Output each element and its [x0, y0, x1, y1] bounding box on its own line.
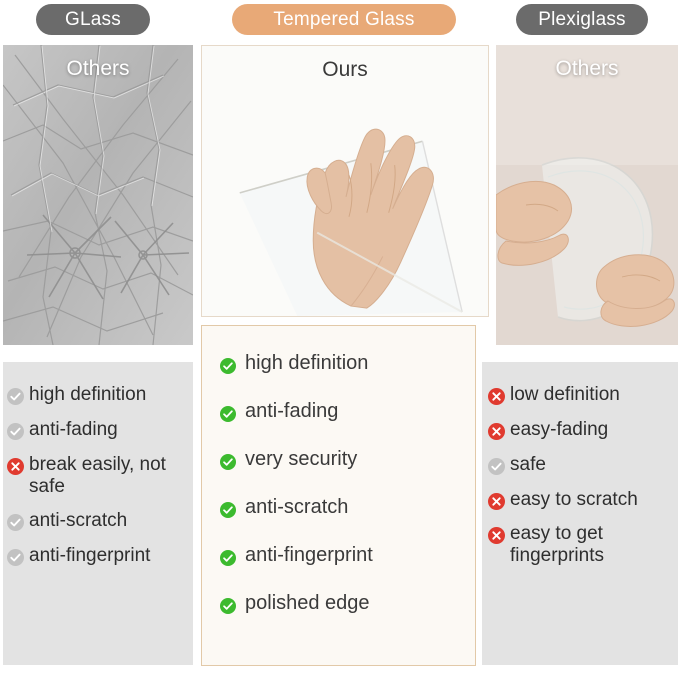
check-gray-icon [7, 388, 24, 405]
list-item: easy to scratch [488, 489, 672, 511]
panel-plexiglass-label: Others [496, 57, 678, 81]
list-item: anti-fingerprint [7, 545, 187, 567]
panel-tempered-glass: Ours [201, 45, 489, 317]
cross-red-icon [488, 388, 505, 405]
list-item: low definition [488, 384, 672, 406]
feature-list-plexiglass: low definition easy-fading safe easy to … [482, 362, 678, 665]
feature-label: anti-fingerprint [29, 545, 150, 567]
feature-label: low definition [510, 384, 620, 406]
cross-red-icon [7, 458, 24, 475]
panel-cracked-glass-label: Others [3, 57, 193, 81]
feature-label: anti-scratch [29, 510, 127, 532]
feature-label: safe [510, 454, 546, 476]
list-item: anti-fingerprint [220, 544, 465, 567]
list-item: very security [220, 448, 465, 471]
feature-label: high definition [245, 352, 368, 375]
header-pill-plexiglass: Plexiglass [516, 4, 648, 35]
check-gray-icon [7, 423, 24, 440]
list-item: safe [488, 454, 672, 476]
header-pill-glass-label: GLass [65, 9, 121, 31]
header-pill-glass: GLass [36, 4, 150, 35]
panel-tempered-glass-label: Ours [202, 58, 488, 82]
check-green-icon [220, 454, 236, 470]
bending-plexiglass-icon [496, 45, 678, 345]
check-green-icon [220, 358, 236, 374]
feature-label: anti-fading [29, 419, 118, 441]
cross-red-icon [488, 493, 505, 510]
list-item: polished edge [220, 592, 465, 615]
check-green-icon [220, 406, 236, 422]
feature-list-glass: high definition anti-fading break easily… [3, 362, 193, 665]
list-item: anti-fading [7, 419, 187, 441]
feature-label: polished edge [245, 592, 370, 615]
feature-label: very security [245, 448, 357, 471]
list-item: anti-scratch [7, 510, 187, 532]
feature-label: break easily, not safe [29, 454, 187, 498]
list-item: easy-fading [488, 419, 672, 441]
hand-holding-glass-icon [202, 46, 488, 316]
panel-plexiglass: Others [496, 45, 678, 345]
header-pill-tempered-glass: Tempered Glass [232, 4, 456, 35]
feature-label: easy-fading [510, 419, 608, 441]
feature-label: high definition [29, 384, 146, 406]
list-item: break easily, not safe [7, 454, 187, 498]
cross-red-icon [488, 527, 505, 544]
check-gray-icon [7, 549, 24, 566]
check-gray-icon [7, 514, 24, 531]
list-item: high definition [7, 384, 187, 406]
check-green-icon [220, 550, 236, 566]
cracked-glass-icon [3, 45, 193, 345]
list-item: easy to get fingerprints [488, 523, 672, 567]
feature-label: easy to scratch [510, 489, 638, 511]
header-pill-tempered-glass-label: Tempered Glass [273, 9, 414, 31]
list-item: high definition [220, 352, 465, 375]
cross-red-icon [488, 423, 505, 440]
check-gray-icon [488, 458, 505, 475]
panel-cracked-glass: Others [3, 45, 193, 345]
feature-label: easy to get fingerprints [510, 523, 672, 567]
feature-label: anti-fading [245, 400, 338, 423]
check-green-icon [220, 598, 236, 614]
feature-label: anti-scratch [245, 496, 348, 519]
header-pill-plexiglass-label: Plexiglass [538, 9, 626, 31]
list-item: anti-fading [220, 400, 465, 423]
feature-list-tempered-glass: high definition anti-fading very securit… [201, 325, 476, 666]
check-green-icon [220, 502, 236, 518]
comparison-infographic: GLass Tempered Glass Plexiglass [0, 0, 679, 680]
feature-label: anti-fingerprint [245, 544, 373, 567]
list-item: anti-scratch [220, 496, 465, 519]
